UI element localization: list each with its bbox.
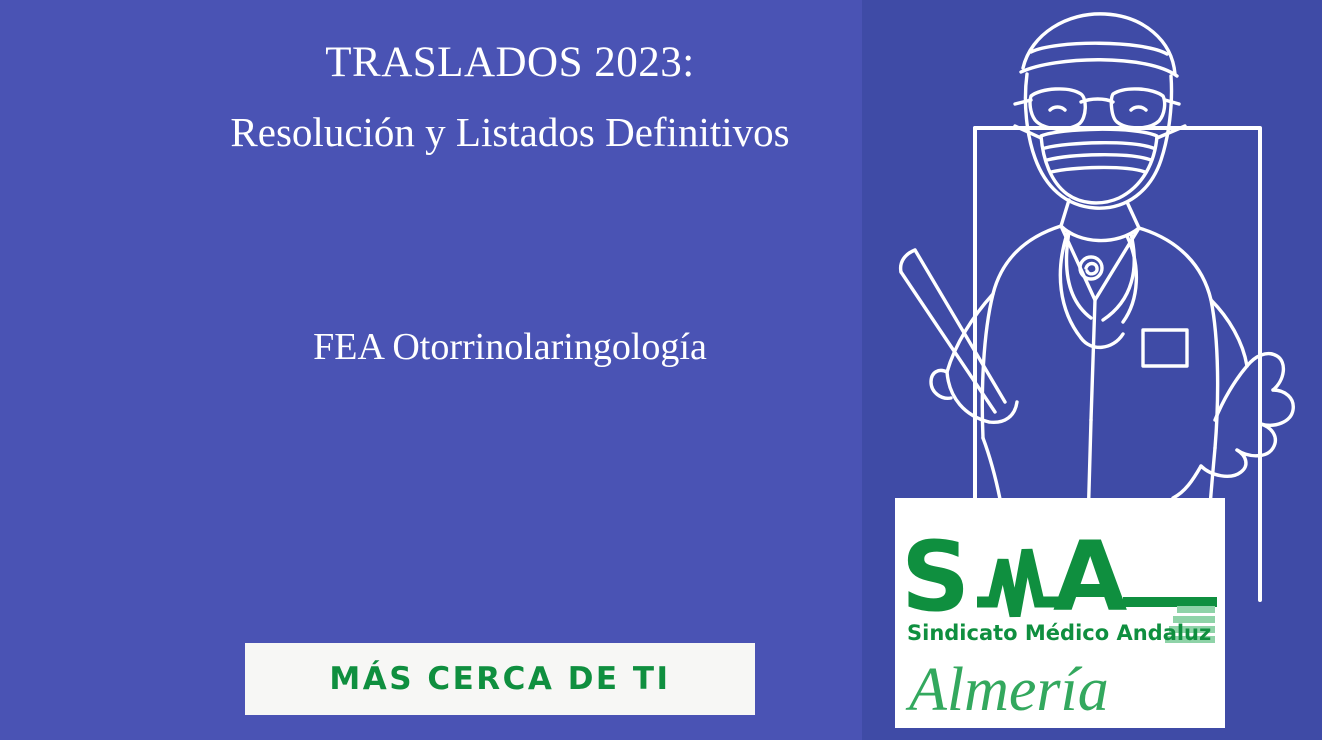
- page-title: TRASLADOS 2023:: [0, 38, 1020, 87]
- logo-subtitle: Sindicato Médico Andaluz: [907, 621, 1211, 645]
- specialty-text: FEA Otorrinolaringología: [0, 325, 1020, 369]
- sma-logo-card: S A Sindicato Médico Andaluz Almería: [895, 498, 1225, 728]
- page-subtitle: Resolución y Listados Definitivos: [0, 109, 1020, 156]
- logo-province: Almería: [905, 656, 1109, 724]
- slide-canvas: TRASLADOS 2023: Resolución y Listados De…: [0, 0, 1322, 740]
- title-block: TRASLADOS 2023: Resolución y Listados De…: [0, 38, 1020, 157]
- logo-ecg-line: [977, 550, 1059, 616]
- logo-letter-s: S: [901, 521, 970, 633]
- sma-logo-icon: S A Sindicato Médico Andaluz Almería: [895, 498, 1225, 728]
- logo-letter-a: A: [1053, 521, 1127, 633]
- slogan-text: MÁS CERCA DE TI: [329, 661, 670, 697]
- slogan-box: MÁS CERCA DE TI: [245, 643, 755, 715]
